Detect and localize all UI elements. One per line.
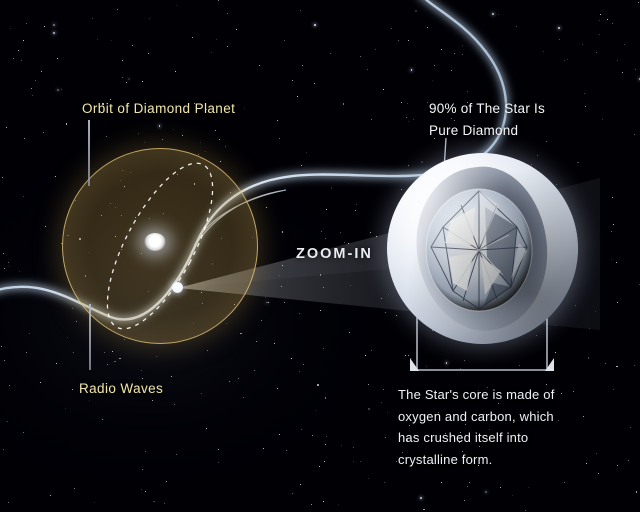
background-star — [286, 450, 287, 451]
background-star — [423, 509, 424, 510]
background-star — [1, 346, 2, 347]
background-star — [396, 461, 397, 462]
background-star — [558, 420, 559, 421]
background-star — [259, 65, 260, 66]
background-star — [573, 391, 574, 392]
background-star — [117, 9, 118, 10]
background-star — [218, 449, 219, 450]
background-star — [624, 44, 625, 45]
background-star — [556, 184, 557, 185]
background-star — [31, 88, 32, 89]
background-star — [613, 389, 614, 390]
background-star — [315, 410, 316, 411]
background-star — [171, 376, 172, 377]
background-star — [582, 44, 583, 45]
background-star — [398, 40, 399, 41]
background-star — [500, 487, 501, 488]
background-star — [427, 27, 428, 28]
background-star — [24, 138, 25, 139]
background-star — [45, 226, 46, 227]
background-star — [10, 28, 11, 29]
background-star — [128, 78, 130, 80]
background-star — [462, 54, 463, 55]
background-star — [375, 49, 376, 50]
background-star — [460, 368, 461, 369]
background-star — [92, 18, 93, 19]
core-description-line-4: crystalline form. — [398, 449, 555, 471]
background-star — [467, 486, 468, 487]
background-star — [277, 388, 278, 389]
background-star — [340, 232, 341, 233]
background-star — [282, 231, 283, 232]
background-star — [528, 487, 529, 488]
background-star — [599, 34, 600, 35]
background-star — [323, 501, 324, 502]
background-star — [268, 302, 269, 303]
background-star — [266, 302, 268, 304]
core-description: The Star's core is made of oxygen and ca… — [398, 384, 555, 470]
background-star — [406, 117, 407, 118]
background-star — [176, 5, 177, 6]
background-star — [311, 504, 312, 505]
background-star — [326, 209, 327, 210]
background-star — [300, 484, 301, 485]
background-star — [628, 460, 629, 461]
background-star — [291, 358, 292, 359]
background-star — [368, 384, 369, 385]
background-star — [405, 355, 406, 356]
background-star — [469, 482, 470, 483]
background-star — [218, 0, 219, 1]
background-star — [567, 59, 568, 60]
background-star — [144, 142, 145, 143]
background-star — [519, 365, 520, 366]
background-star — [464, 500, 465, 501]
background-star — [173, 129, 174, 130]
background-star — [301, 429, 302, 430]
host-star — [144, 233, 166, 251]
background-star — [297, 96, 298, 97]
background-star — [299, 313, 300, 314]
background-star — [138, 133, 139, 134]
background-star — [266, 207, 267, 208]
background-star — [441, 49, 442, 50]
background-star — [57, 58, 58, 59]
radio-waves-label: Radio Waves — [79, 381, 163, 396]
background-star — [43, 132, 44, 133]
background-star — [243, 397, 244, 398]
background-star — [142, 81, 143, 82]
background-star — [4, 268, 5, 269]
background-star — [166, 481, 167, 482]
background-star — [284, 302, 285, 303]
background-star — [555, 325, 556, 326]
background-star — [321, 231, 322, 232]
background-star — [21, 60, 22, 61]
background-star — [622, 72, 623, 73]
background-star — [349, 332, 350, 333]
background-star — [107, 364, 108, 365]
background-star — [324, 461, 325, 462]
background-star — [387, 412, 388, 413]
background-star — [132, 45, 133, 46]
background-star — [216, 39, 217, 40]
background-star — [3, 253, 4, 254]
background-star — [325, 444, 326, 445]
background-star — [2, 177, 3, 178]
background-star — [426, 366, 428, 368]
background-star — [546, 141, 547, 142]
background-star — [325, 238, 326, 239]
background-star — [408, 355, 409, 356]
background-star — [53, 24, 55, 26]
background-star — [94, 502, 95, 503]
core-description-line-3: has crushed itself into — [398, 427, 555, 449]
background-star — [282, 265, 283, 266]
background-star — [525, 510, 526, 511]
background-star — [365, 355, 366, 356]
background-star — [292, 80, 293, 81]
background-star — [97, 39, 98, 40]
background-star — [432, 80, 433, 81]
background-star — [23, 196, 24, 197]
background-star — [57, 89, 59, 91]
background-star — [227, 46, 228, 47]
background-star — [401, 189, 402, 190]
background-star — [575, 305, 576, 306]
background-star — [23, 40, 24, 41]
background-star — [176, 454, 177, 455]
background-star — [141, 489, 142, 490]
background-star — [55, 176, 56, 177]
background-star — [630, 427, 631, 428]
background-star — [616, 262, 617, 263]
background-star — [634, 365, 635, 366]
background-star — [350, 285, 351, 286]
background-star — [159, 125, 161, 127]
background-star — [343, 103, 344, 104]
core-description-line-2: oxygen and carbon, which — [398, 406, 555, 428]
background-star — [434, 65, 435, 66]
background-star — [227, 13, 228, 14]
background-star — [104, 352, 105, 353]
background-star — [229, 381, 230, 382]
background-star — [634, 134, 635, 135]
background-star — [29, 333, 30, 334]
diamond-callout-line-2: Pure Diamond — [429, 120, 545, 142]
background-star — [119, 358, 120, 359]
background-star — [408, 40, 409, 41]
background-star — [263, 448, 264, 449]
background-star — [325, 397, 326, 398]
background-star — [561, 393, 562, 394]
background-star — [589, 328, 590, 329]
background-star — [353, 447, 354, 448]
background-star — [279, 275, 280, 276]
background-star — [411, 358, 412, 359]
background-star — [323, 348, 324, 349]
background-star — [73, 352, 74, 353]
background-star — [605, 363, 606, 364]
background-star — [636, 491, 637, 492]
background-star — [559, 39, 560, 40]
background-star — [388, 294, 389, 295]
background-star — [66, 123, 67, 124]
background-star — [306, 152, 307, 153]
background-star — [454, 53, 455, 54]
background-star — [200, 142, 201, 143]
background-star — [284, 40, 285, 41]
background-star — [244, 108, 245, 109]
background-star — [611, 231, 612, 232]
background-star — [401, 102, 402, 103]
background-star — [148, 53, 149, 54]
background-star — [281, 286, 282, 287]
background-star — [558, 27, 560, 29]
background-star — [411, 69, 413, 71]
background-star — [50, 495, 51, 496]
background-star — [596, 453, 597, 454]
background-star — [141, 370, 142, 371]
background-star — [145, 491, 146, 492]
background-star — [586, 463, 587, 464]
background-star — [175, 71, 176, 72]
background-star — [577, 162, 578, 163]
background-star — [498, 14, 499, 15]
background-star — [9, 266, 10, 267]
orbit-label-leader — [88, 120, 90, 186]
background-star — [320, 310, 321, 311]
background-star — [371, 350, 372, 351]
background-star — [381, 402, 382, 403]
zoom-in-label: ZOOM-IN — [296, 246, 373, 262]
background-star — [265, 297, 266, 298]
background-star — [114, 361, 115, 362]
background-star — [385, 437, 386, 438]
background-star — [201, 393, 202, 394]
background-star — [174, 404, 175, 405]
background-star — [323, 287, 324, 288]
background-star — [396, 315, 397, 316]
background-star — [564, 482, 565, 483]
background-star — [516, 26, 517, 27]
white-dwarf-star — [387, 153, 578, 344]
background-star — [317, 384, 318, 385]
background-star — [353, 461, 354, 462]
background-star — [122, 77, 123, 78]
background-star — [3, 449, 4, 450]
background-star — [26, 23, 27, 24]
background-star — [616, 366, 617, 367]
background-star — [512, 495, 513, 496]
background-star — [53, 32, 55, 34]
background-star — [56, 363, 57, 364]
background-star — [617, 465, 618, 466]
background-star — [215, 130, 216, 131]
background-star — [299, 371, 300, 372]
background-star — [279, 138, 280, 139]
background-star — [23, 432, 24, 433]
background-star — [26, 352, 27, 353]
background-star — [596, 52, 597, 53]
background-star — [89, 400, 90, 401]
background-star — [18, 50, 19, 51]
orbit-label: Orbit of Diamond Planet — [82, 101, 235, 116]
background-star — [492, 13, 494, 15]
background-star — [319, 466, 320, 467]
background-star — [485, 491, 487, 493]
background-star — [531, 164, 532, 165]
background-star — [348, 243, 349, 244]
background-star — [537, 155, 538, 156]
background-star — [126, 82, 127, 83]
background-star — [300, 10, 301, 11]
background-star — [612, 23, 613, 24]
background-star — [65, 408, 66, 409]
background-star — [368, 408, 369, 409]
diamond-callout: 90% of The Star Is Pure Diamond — [429, 98, 545, 142]
background-star — [9, 385, 10, 386]
background-star — [330, 53, 331, 54]
background-star — [427, 102, 428, 103]
background-star — [19, 271, 20, 272]
background-star — [302, 65, 303, 66]
background-star — [602, 119, 603, 120]
background-star — [314, 24, 316, 26]
background-star — [467, 91, 468, 92]
background-star — [617, 302, 618, 303]
background-star — [612, 197, 613, 198]
background-star — [279, 434, 280, 435]
background-star — [7, 421, 8, 422]
background-star — [408, 165, 409, 166]
core-description-line-1: The Star's core is made of — [398, 384, 555, 406]
background-star — [536, 335, 537, 336]
background-star — [277, 120, 278, 121]
background-star — [583, 416, 584, 417]
background-star — [391, 28, 392, 29]
background-star — [142, 469, 143, 470]
background-star — [344, 242, 345, 243]
dwarf-star-shading — [387, 153, 578, 344]
background-star — [145, 451, 146, 452]
background-star — [376, 236, 377, 237]
background-star — [40, 382, 41, 383]
background-star — [225, 146, 226, 147]
background-star — [72, 389, 73, 390]
background-star — [588, 357, 589, 358]
background-star — [102, 419, 103, 420]
background-star — [74, 488, 75, 489]
background-star — [6, 127, 7, 128]
background-star — [338, 504, 339, 505]
background-star — [149, 18, 150, 19]
background-star — [635, 69, 636, 70]
background-star — [441, 482, 442, 483]
background-star — [341, 445, 342, 446]
background-star — [420, 497, 422, 499]
background-star — [446, 362, 448, 364]
background-star — [543, 51, 544, 52]
diamond-planet — [172, 282, 183, 293]
background-star — [32, 95, 33, 96]
background-star — [611, 259, 612, 260]
background-star — [370, 232, 371, 233]
background-star — [41, 71, 42, 72]
background-star — [464, 360, 465, 361]
background-star — [360, 461, 361, 462]
background-star — [451, 70, 452, 71]
background-star — [303, 364, 304, 365]
background-star — [35, 80, 36, 81]
orbit-system — [62, 148, 258, 344]
background-star — [595, 311, 596, 312]
background-star — [8, 502, 9, 503]
background-star — [486, 50, 487, 51]
background-star — [356, 204, 357, 205]
background-star — [13, 58, 14, 59]
background-star — [312, 435, 313, 436]
background-star — [111, 40, 112, 41]
background-star — [218, 462, 219, 463]
background-star — [112, 351, 113, 352]
background-star — [600, 14, 601, 15]
background-star — [314, 83, 315, 84]
background-star — [383, 89, 384, 90]
background-star — [236, 29, 237, 30]
background-star — [8, 262, 9, 263]
background-star — [585, 106, 586, 107]
background-star — [598, 473, 599, 474]
background-star — [383, 389, 384, 390]
background-star — [638, 2, 639, 3]
background-star — [156, 356, 157, 357]
background-star — [122, 60, 123, 61]
background-star — [371, 119, 372, 120]
background-star — [413, 119, 414, 120]
background-star — [367, 69, 368, 70]
background-star — [320, 274, 321, 275]
background-star — [368, 478, 369, 479]
background-star — [206, 428, 207, 429]
background-star — [407, 103, 408, 104]
background-star — [44, 26, 45, 27]
background-star — [207, 350, 208, 351]
background-star — [617, 60, 618, 61]
background-star — [599, 20, 600, 21]
background-star — [326, 436, 327, 437]
background-star — [415, 10, 416, 11]
background-star — [607, 19, 608, 20]
background-star — [182, 135, 183, 136]
background-star — [4, 360, 5, 361]
background-star — [192, 37, 193, 38]
background-star — [613, 224, 614, 225]
background-star — [274, 343, 275, 344]
background-star — [421, 161, 422, 162]
radio-waves-label-leader — [89, 304, 91, 370]
background-star — [261, 320, 262, 321]
background-star — [462, 45, 463, 46]
background-star — [360, 56, 361, 57]
diamond-callout-line-1: 90% of The Star Is — [429, 98, 545, 120]
background-star — [254, 370, 255, 371]
infographic-scene: Orbit of Diamond Planet Radio Waves ZOOM… — [0, 0, 640, 512]
background-star — [152, 400, 153, 401]
background-star — [142, 378, 143, 379]
background-star — [331, 187, 332, 188]
background-star — [384, 482, 385, 483]
